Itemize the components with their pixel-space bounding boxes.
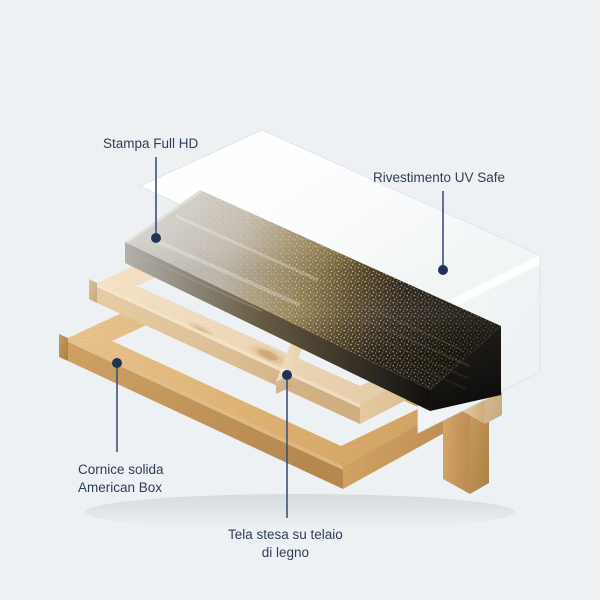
exploded-product-illustration — [0, 0, 600, 600]
callout-dot-stampa[interactable] — [151, 233, 161, 243]
callout-dot-uv[interactable] — [438, 265, 448, 275]
callout-label-stampa: Stampa Full HD — [103, 135, 198, 153]
callout-label-tela: Tela stesa su telaio di legno — [228, 526, 343, 562]
callout-dot-cornice[interactable] — [112, 358, 122, 368]
callout-dot-tela[interactable] — [282, 370, 292, 380]
poster-canvas: MATERIALI PREMIUM — [0, 0, 600, 600]
callout-label-cornice: Cornice solida American Box — [78, 461, 164, 497]
callout-label-uv: Rivestimento UV Safe — [373, 169, 505, 187]
